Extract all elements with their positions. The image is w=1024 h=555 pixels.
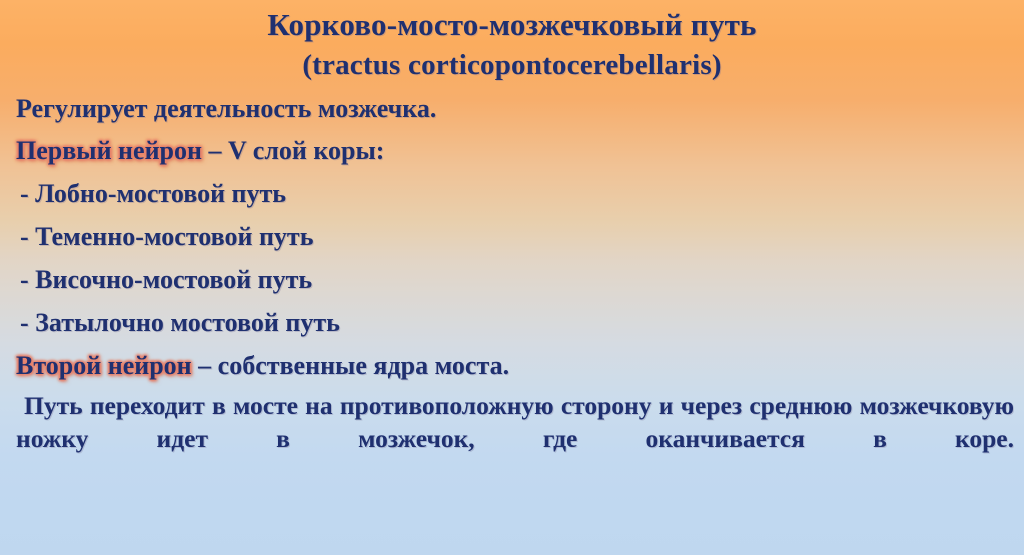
summary-paragraph: Путь переходит в мосте на противоположну… — [0, 389, 1024, 488]
second-neuron-description: – собственные ядра моста. — [192, 351, 509, 380]
lead-statement: Регулирует деятельность мозжечка. — [16, 96, 1012, 122]
title-line-russian: Корково-мосто-мозжечковый путь — [0, 8, 1024, 41]
list-item: - Лобно-мостовой путь — [16, 181, 1012, 207]
slide-canvas: Корково-мосто-мозжечковый путь (tractus … — [0, 0, 1024, 555]
second-neuron-label: Второй нейрон — [16, 351, 192, 380]
list-item: - Теменно-мостовой путь — [16, 224, 1012, 250]
first-neuron-line: Первый нейрон – V слой коры: — [16, 138, 1012, 164]
title-line-latin: (tractus corticopontocerebellaris) — [0, 50, 1024, 81]
second-neuron-line: Второй нейрон – собственные ядра моста. — [16, 353, 1012, 379]
first-neuron-label: Первый нейрон — [16, 136, 202, 165]
slide-title: Корково-мосто-мозжечковый путь (tractus … — [0, 0, 1024, 82]
first-neuron-description: – V слой коры: — [202, 136, 384, 165]
list-item: - Височно-мостовой путь — [16, 267, 1012, 293]
list-item: - Затылочно мостовой путь — [16, 310, 1012, 336]
slide-body: Регулирует деятельность мозжечка. Первый… — [0, 96, 1024, 379]
